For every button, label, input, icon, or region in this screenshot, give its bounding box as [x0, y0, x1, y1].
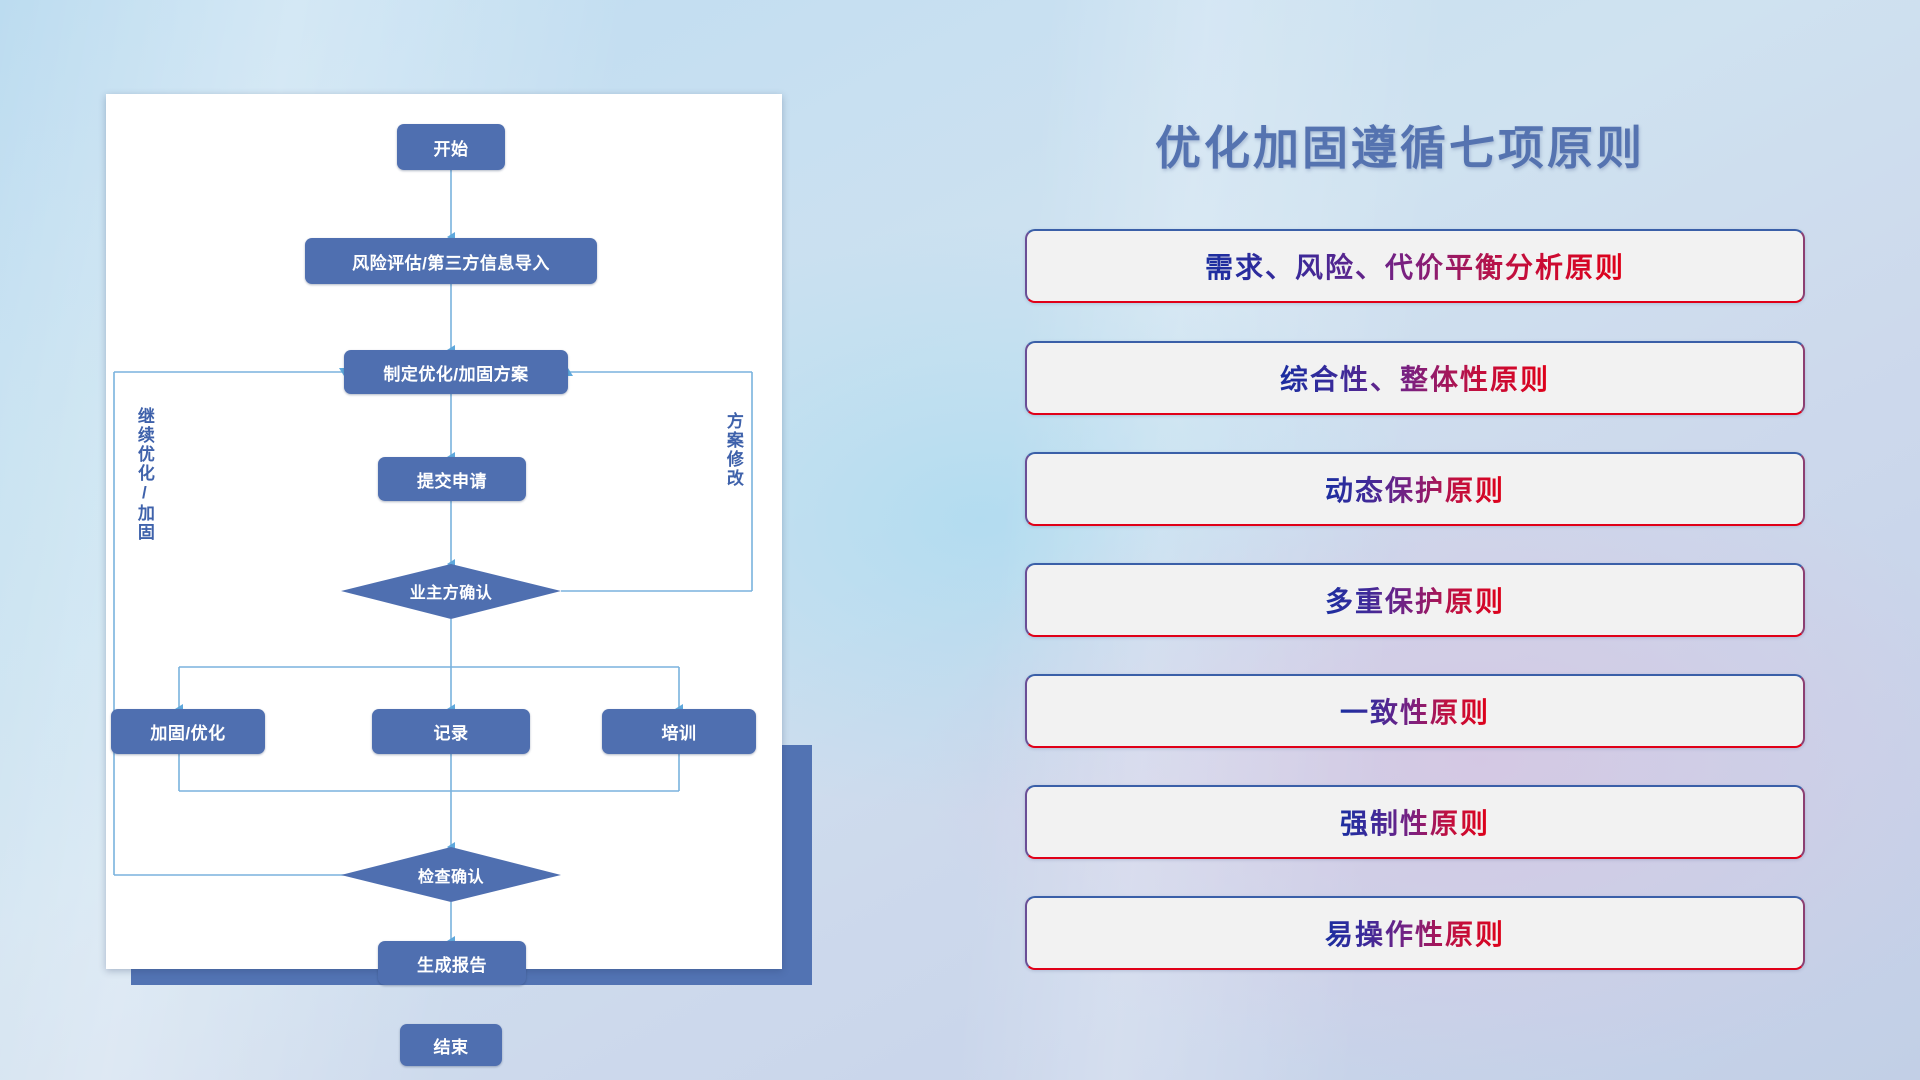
- flow-node-reinforce-optimize-label: 加固/优化: [150, 719, 225, 744]
- flow-node-end-label: 结束: [434, 1033, 469, 1058]
- decision-check-confirm-shape: [341, 847, 561, 902]
- principle-item-4[interactable]: 多重保护原则: [1025, 563, 1805, 637]
- flow-node-generate-report[interactable]: 生成报告: [378, 941, 526, 985]
- flow-node-start[interactable]: 开始: [397, 124, 505, 170]
- principle-item-5-label: 一致性原则: [1340, 691, 1490, 731]
- flowchart-card: 开始 风险评估/第三方信息导入 制定优化/加固方案 提交申请 业主方确认 加固/…: [106, 94, 782, 969]
- principle-item-7[interactable]: 易操作性原则: [1025, 896, 1805, 970]
- flow-node-risk-assessment-label: 风险评估/第三方信息导入: [352, 249, 550, 274]
- flow-node-reinforce-optimize[interactable]: 加固/优化: [111, 709, 265, 754]
- principle-item-2-label: 综合性、整体性原则: [1280, 358, 1550, 398]
- flow-edge-label-plan-revision: 方案修改: [724, 412, 742, 488]
- principle-item-5[interactable]: 一致性原则: [1025, 674, 1805, 748]
- flow-node-make-plan-label: 制定优化/加固方案: [383, 360, 528, 385]
- decision-owner-confirm-shape: [341, 564, 561, 619]
- flow-node-generate-report-label: 生成报告: [417, 951, 487, 976]
- flow-node-training[interactable]: 培训: [602, 709, 756, 754]
- flow-node-make-plan[interactable]: 制定优化/加固方案: [344, 350, 568, 394]
- principle-item-6[interactable]: 强制性原则: [1025, 785, 1805, 859]
- principle-item-3[interactable]: 动态保护原则: [1025, 452, 1805, 526]
- flowchart-connectors: [106, 94, 782, 969]
- flow-node-training-label: 培训: [662, 719, 697, 744]
- flow-node-submit-application[interactable]: 提交申请: [378, 457, 526, 501]
- flow-node-risk-assessment[interactable]: 风险评估/第三方信息导入: [305, 238, 597, 284]
- principle-item-7-label: 易操作性原则: [1325, 913, 1505, 953]
- principle-item-6-label: 强制性原则: [1340, 802, 1490, 842]
- flow-node-record-label: 记录: [434, 719, 469, 744]
- principle-item-4-label: 多重保护原则: [1325, 580, 1505, 620]
- flow-edge-label-continue-optimize: 继续优化/加固: [135, 407, 153, 542]
- principle-item-2[interactable]: 综合性、整体性原则: [1025, 341, 1805, 415]
- flow-node-record[interactable]: 记录: [372, 709, 530, 754]
- flow-node-end[interactable]: 结束: [400, 1024, 502, 1066]
- right-panel-title: 优化加固遵循七项原则: [1155, 112, 1645, 178]
- flow-node-submit-application-label: 提交申请: [417, 467, 487, 492]
- principle-item-3-label: 动态保护原则: [1325, 469, 1505, 509]
- slide-canvas: 开始 风险评估/第三方信息导入 制定优化/加固方案 提交申请 业主方确认 加固/…: [0, 0, 1920, 1080]
- flow-node-start-label: 开始: [434, 135, 469, 160]
- principle-item-1-label: 需求、风险、代价平衡分析原则: [1205, 246, 1625, 286]
- principle-item-1[interactable]: 需求、风险、代价平衡分析原则: [1025, 229, 1805, 303]
